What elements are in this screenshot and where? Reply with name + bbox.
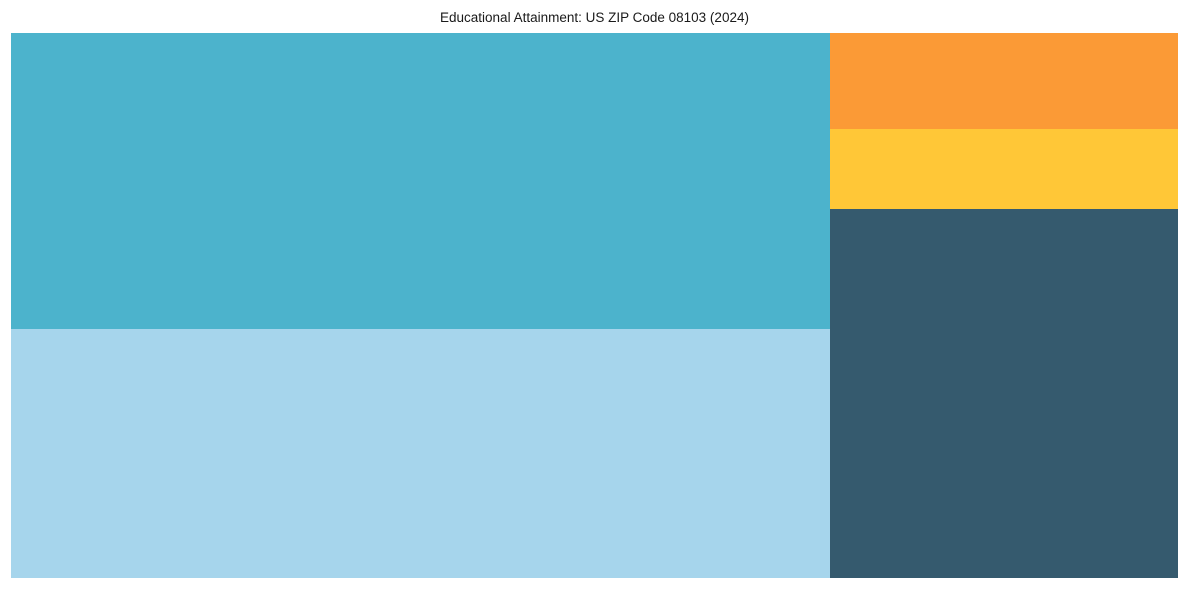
treemap-tile-label: Associate Degree — [838, 135, 933, 149]
treemap-tile-label: High School Diploma — [838, 215, 950, 229]
page-title: Educational Attainment: US ZIP Code 0810… — [0, 0, 1189, 33]
treemap-tile-label: Bachelor's Degree — [19, 39, 117, 53]
treemap-figure: Educational Attainment: US ZIP Code 0810… — [0, 0, 1189, 590]
treemap-tile-label: Some College, No Degree — [19, 335, 159, 349]
treemap-column-secondary: Graduate or Professional Degree Associat… — [830, 33, 1178, 578]
treemap-tile-high-school-diploma[interactable]: High School Diploma — [830, 209, 1178, 578]
treemap-tile-associate-degree[interactable]: Associate Degree — [830, 129, 1178, 209]
treemap-tile-graduate-or-professional-degree[interactable]: Graduate or Professional Degree — [830, 33, 1178, 129]
treemap-tile-label: Graduate or Professional Degree — [838, 39, 1014, 53]
treemap-column-primary: Bachelor's Degree Some College, No Degre… — [11, 33, 830, 578]
treemap-plot-area: Bachelor's Degree Some College, No Degre… — [11, 33, 1178, 578]
treemap-tile-some-college-no-degree[interactable]: Some College, No Degree — [11, 329, 830, 578]
treemap-tile-bachelors-degree[interactable]: Bachelor's Degree — [11, 33, 830, 329]
